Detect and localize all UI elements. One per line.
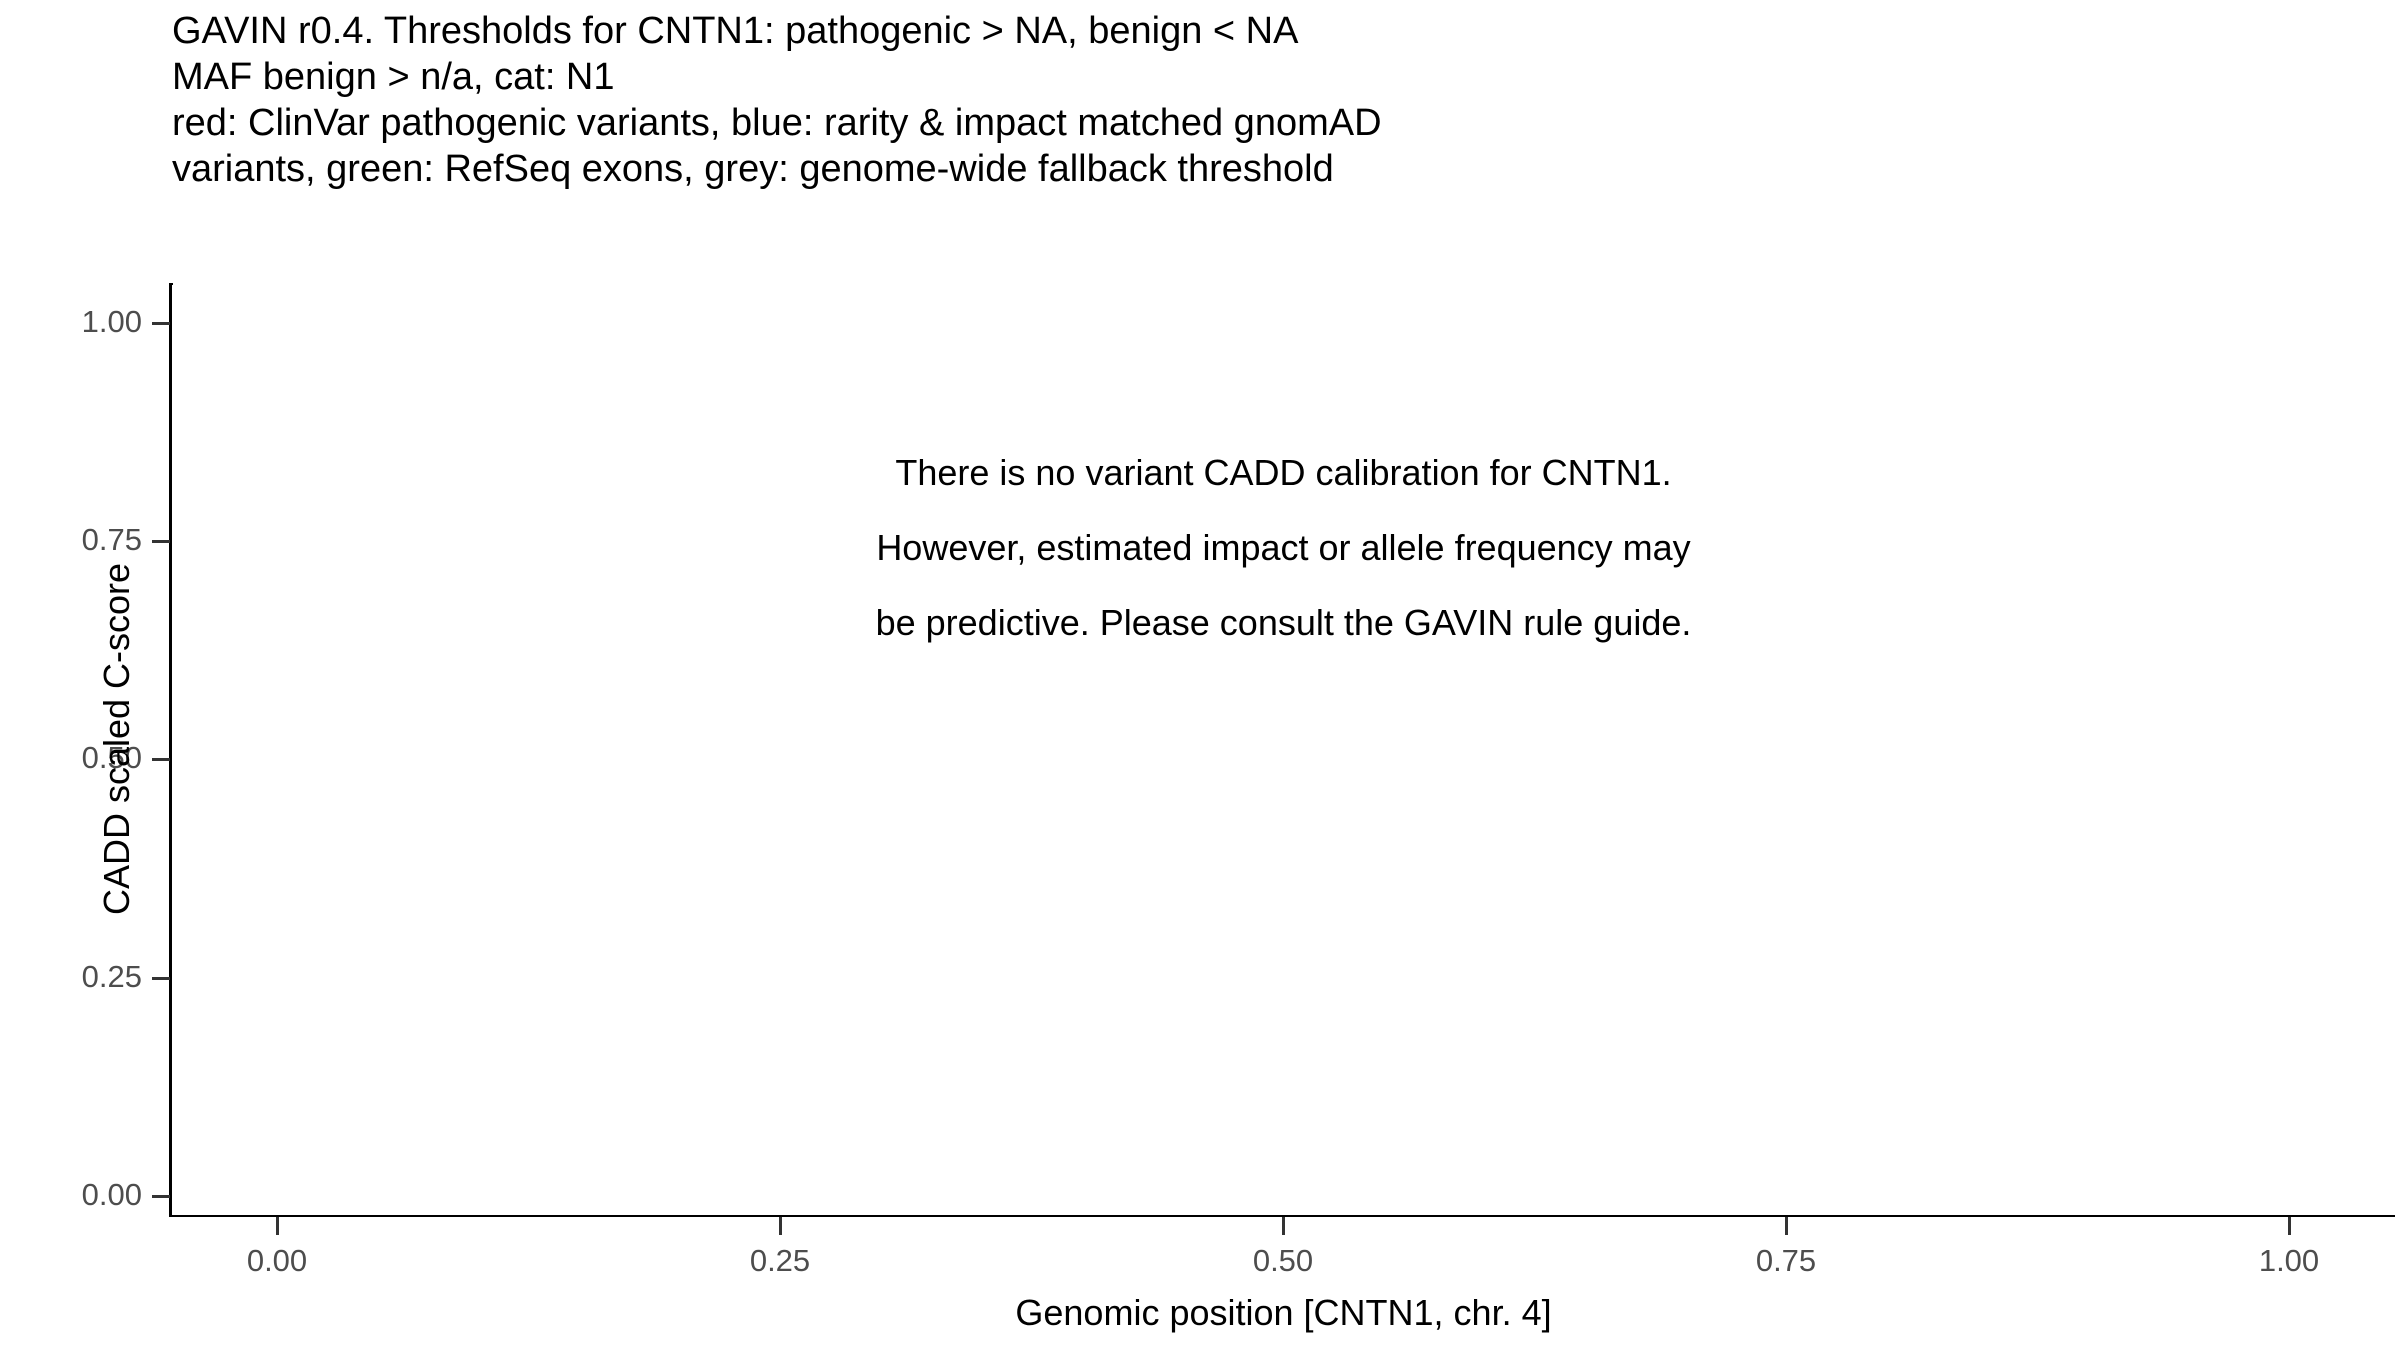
x-tick-label-0.50: 0.50: [1183, 1243, 1383, 1279]
x-tick-mark-0.25: [779, 1217, 782, 1235]
y-tick-mark-1.00: [152, 322, 170, 325]
x-tick-mark-1.00: [2288, 1217, 2291, 1235]
chart-title-line-3: red: ClinVar pathogenic variants, blue: …: [172, 100, 2172, 146]
x-tick-label-1.00: 1.00: [2189, 1243, 2389, 1279]
x-tick-mark-0.00: [276, 1217, 279, 1235]
y-tick-mark-0.25: [152, 977, 170, 980]
chart-title: GAVIN r0.4. Thresholds for CNTN1: pathog…: [172, 8, 2172, 192]
x-axis-title: Genomic position [CNTN1, chr. 4]: [172, 1292, 2395, 1334]
y-tick-mark-0.50: [152, 758, 170, 761]
x-tick-mark-0.50: [1282, 1217, 1285, 1235]
panel-annotation-line-3: be predictive. Please consult the GAVIN …: [172, 585, 2395, 660]
x-tick-mark-0.75: [1785, 1217, 1788, 1235]
panel-annotation-line-2: However, estimated impact or allele freq…: [172, 510, 2395, 585]
x-tick-label-0.75: 0.75: [1686, 1243, 1886, 1279]
chart-title-line-4: variants, green: RefSeq exons, grey: gen…: [172, 146, 2172, 192]
x-tick-label-0.25: 0.25: [680, 1243, 880, 1279]
plot-panel: There is no variant CADD calibration for…: [172, 285, 2395, 1215]
chart-title-line-2: MAF benign > n/a, cat: N1: [172, 54, 2172, 100]
panel-annotation-line-1: There is no variant CADD calibration for…: [172, 435, 2395, 510]
chart-figure: GAVIN r0.4. Thresholds for CNTN1: pathog…: [0, 0, 2400, 1350]
panel-annotation: There is no variant CADD calibration for…: [172, 435, 2395, 660]
y-tick-mark-0.00: [152, 1195, 170, 1198]
y-tick-mark-0.75: [152, 540, 170, 543]
chart-title-line-1: GAVIN r0.4. Thresholds for CNTN1: pathog…: [172, 8, 2172, 54]
x-tick-label-0.00: 0.00: [177, 1243, 377, 1279]
y-axis-title: CADD scaled C-score: [96, 274, 138, 1204]
